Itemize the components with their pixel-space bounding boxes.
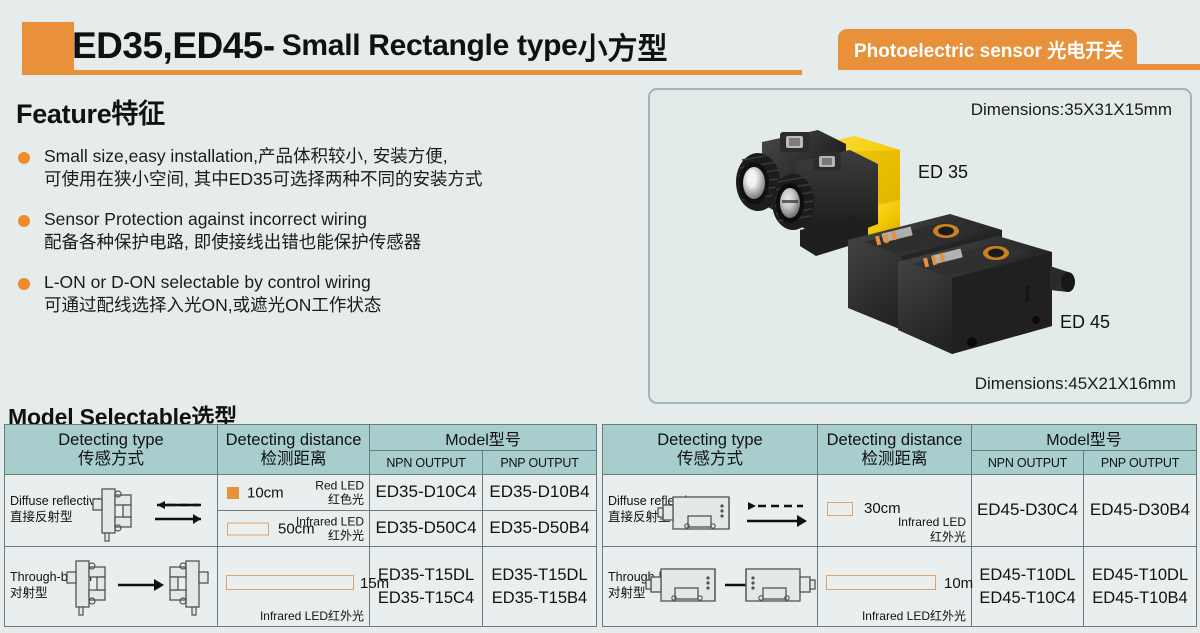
th-detecting-distance: Detecting distance 检测距离	[818, 425, 972, 475]
cell-distance-50cm: 50cm Infrared LED 红外光	[218, 511, 370, 547]
model-table-ed35: Detecting type 传感方式 Detecting distance 检…	[4, 424, 597, 627]
diffuse-reflective-ed45-icon	[655, 489, 815, 543]
led-type-en: Red LED	[315, 478, 364, 492]
distance-value: 10cm	[247, 484, 284, 501]
table-header-row: Detecting type 传感方式 Detecting distance 检…	[603, 425, 1197, 451]
cell-model-npn: ED35-D50C4	[370, 511, 483, 547]
led-type-label: Infrared LED红外光	[260, 609, 364, 623]
distance-bar-15m	[226, 575, 354, 590]
cell-distance-10m: 10m Infrared LED红外光	[818, 547, 972, 627]
model-table-ed35-wrapper: Detecting type 传感方式 Detecting distance 检…	[4, 424, 596, 626]
cell-type-diffuse-ed35: Diffuse reflective 直接反射型	[5, 475, 218, 547]
feature-item: L-ON or D-ON selectable by control wirin…	[16, 271, 636, 317]
bullet-dot-icon	[18, 152, 30, 164]
feature-heading: Feature特征	[16, 92, 636, 131]
distance-bar-30cm	[827, 502, 853, 516]
th-detecting-type: Detecting type 传感方式	[603, 425, 818, 475]
bullet-dot-icon	[18, 215, 30, 227]
cell-type-throughbeam-ed45: Through-beam 对射型	[603, 547, 818, 627]
model-line: ED45-T10DL ED45-T10B4	[1084, 564, 1196, 609]
table-header-row: Detecting type 传感方式 Detecting distance 检…	[5, 425, 597, 451]
diffuse-reflective-ed35-icon	[87, 481, 213, 545]
led-type-label: Infrared LED红外光	[862, 609, 966, 623]
table-row: Diffuse reflective 直接反射型	[603, 475, 1197, 547]
title-type-cn: 小方型	[578, 24, 668, 68]
cell-model-pnp: ED35-T15DL ED35-T15B4	[483, 547, 597, 627]
th-detecting-type: Detecting type 传感方式	[5, 425, 218, 475]
distance-value: 30cm	[864, 500, 901, 517]
model-line: ED35-T15DL ED35-T15B4	[483, 564, 596, 609]
cell-type-diffuse-ed45: Diffuse reflective 直接反射型	[603, 475, 818, 547]
feature-list: Small size,easy installation,产品体积较小, 安装方…	[16, 145, 636, 318]
th-model: Model型号	[370, 425, 597, 451]
th-detecting-distance: Detecting distance 检测距离	[218, 425, 370, 475]
led-type-en: Infrared LED	[296, 514, 364, 528]
th-model: Model型号	[972, 425, 1197, 451]
model-table-ed45: Detecting type 传感方式 Detecting distance 检…	[602, 424, 1197, 627]
led-type-label: Red LED 红色光	[315, 478, 364, 507]
distance-bar-50cm	[227, 522, 269, 535]
cell-distance-30cm: 30cm Infrared LED 红外光	[818, 475, 972, 547]
page-header: ED35,ED45- Small Rectangle type 小方型 Phot…	[0, 0, 1200, 80]
th-detecting-type-cn: 传感方式	[603, 450, 817, 469]
table-row: Diffuse reflective 直接反射型	[5, 475, 597, 511]
feature-line-1: Sensor Protection against incorrect wiri…	[44, 208, 636, 231]
table-row: Through-beam 对射型	[603, 547, 1197, 627]
model-line: ED45-T10DL ED45-T10C4	[972, 564, 1083, 609]
cell-model-npn: ED45-T10DL ED45-T10C4	[972, 547, 1084, 627]
distance-value: 10m	[944, 575, 973, 592]
feature-line-1: L-ON or D-ON selectable by control wirin…	[44, 271, 636, 294]
led-type-label: Infrared LED 红外光	[296, 514, 364, 543]
th-pnp-output: PNP OUTPUT	[1084, 451, 1197, 475]
product-photo-panel: Dimensions:35X31X15mm ED 35 ED 45 Dimens…	[648, 88, 1192, 404]
cell-distance-15m: 15m Infrared LED红外光	[218, 547, 370, 627]
th-detecting-type-en: Detecting type	[603, 431, 817, 450]
led-type-cn: 红外光	[296, 529, 364, 543]
led-type-cn: 红色光	[315, 493, 364, 507]
feature-item: Small size,easy installation,产品体积较小, 安装方…	[16, 145, 636, 191]
feature-item: Sensor Protection against incorrect wiri…	[16, 208, 636, 254]
led-type-label: Infrared LED 红外光	[898, 515, 966, 544]
cell-model-pnp: ED35-D10B4	[483, 475, 597, 511]
th-detecting-type-en: Detecting type	[5, 431, 217, 450]
th-detecting-distance-cn: 检测距离	[818, 450, 971, 469]
through-beam-ed45-icon	[643, 563, 818, 619]
distance-value: 15m	[360, 575, 389, 592]
led-type-en: Infrared LED	[898, 515, 966, 529]
th-pnp-output: PNP OUTPUT	[483, 451, 597, 475]
th-detecting-distance-en: Detecting distance	[218, 431, 369, 450]
th-detecting-distance-en: Detecting distance	[818, 431, 971, 450]
distance-bar-10m	[826, 575, 936, 590]
cell-model-pnp: ED35-D50B4	[483, 511, 597, 547]
cell-model-npn: ED35-D10C4	[370, 475, 483, 511]
distance-bar-10cm	[227, 487, 239, 499]
cell-model-pnp: ED45-D30B4	[1084, 475, 1197, 547]
page-title: ED35,ED45- Small Rectangle type 小方型	[72, 20, 668, 72]
feature-section: Feature特征 Small size,easy installation,产…	[16, 92, 636, 335]
cell-type-throughbeam-ed35: Through-beam 对射型	[5, 547, 218, 627]
cell-model-pnp: ED45-T10DL ED45-T10B4	[1084, 547, 1197, 627]
header-accent-block	[22, 22, 74, 70]
datasheet-page: ED35,ED45- Small Rectangle type 小方型 Phot…	[0, 0, 1200, 633]
table-row: Through-beam 对射型	[5, 547, 597, 627]
feature-line-2: 可通过配线选择入光ON,或遮光ON工作状态	[44, 294, 636, 317]
th-detecting-type-cn: 传感方式	[5, 450, 217, 469]
title-model-codes: ED35,ED45-	[72, 25, 275, 67]
th-npn-output: NPN OUTPUT	[370, 451, 483, 475]
bullet-dot-icon	[18, 278, 30, 290]
title-type-en: Small Rectangle type	[282, 29, 578, 63]
feature-line-2: 配备各种保护电路, 即使接线出错也能保护传感器	[44, 231, 636, 254]
th-npn-output: NPN OUTPUT	[972, 451, 1084, 475]
through-beam-ed35-icon	[60, 553, 215, 623]
feature-line-1: Small size,easy installation,产品体积较小, 安装方…	[44, 145, 636, 168]
led-type-cn: 红外光	[898, 530, 966, 544]
th-detecting-distance-cn: 检测距离	[218, 450, 369, 469]
product-photo-illustration	[650, 90, 1194, 406]
feature-line-2: 可使用在狭小空间, 其中ED35可选择两种不同的安装方式	[44, 168, 636, 191]
cell-model-npn: ED45-D30C4	[972, 475, 1084, 547]
category-badge: Photoelectric sensor 光电开关	[838, 29, 1137, 69]
cell-distance-10cm: 10cm Red LED 红色光	[218, 475, 370, 511]
model-table-ed45-wrapper: Detecting type 传感方式 Detecting distance 检…	[602, 424, 1196, 626]
